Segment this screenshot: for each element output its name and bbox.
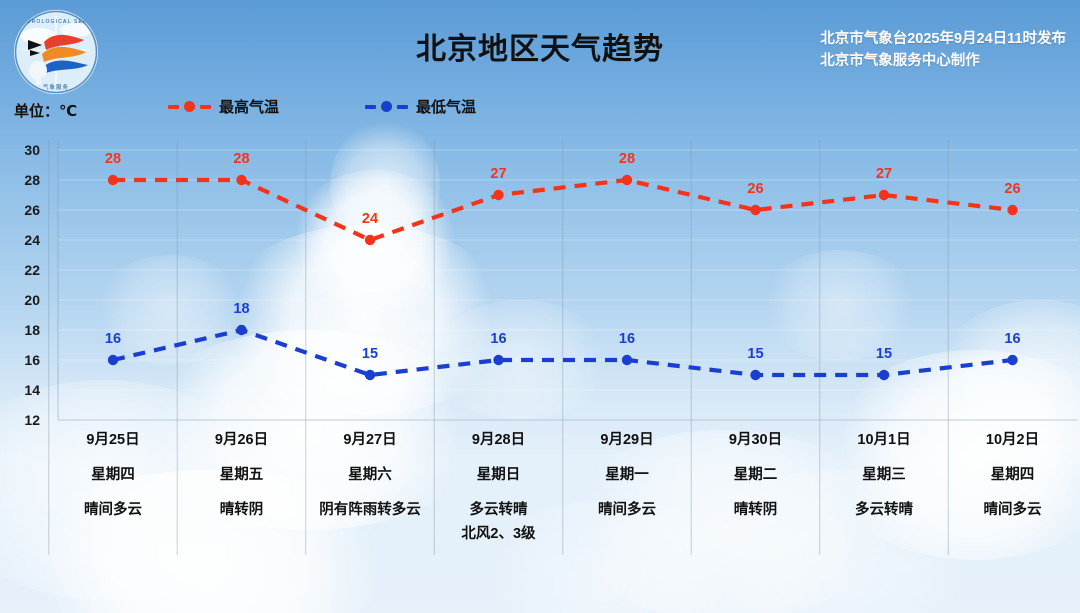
day-date-3: 9月28日	[424, 428, 574, 449]
low-temp-label-5: 15	[747, 346, 763, 362]
day-weekday-3: 星期日	[424, 463, 574, 484]
day-weekday-2: 星期六	[295, 463, 445, 484]
high-temp-label-6: 27	[876, 166, 892, 182]
day-weather-3: 多云转晴	[424, 498, 574, 522]
day-column-5: 9月30日星期二晴转阴	[681, 428, 831, 522]
day-weekday-5: 星期二	[681, 463, 831, 484]
low-temp-label-7: 16	[1004, 331, 1020, 347]
day-weather-4: 晴间多云	[552, 498, 702, 522]
day-weekday-7: 星期四	[938, 463, 1080, 484]
day-column-2: 9月27日星期六阴有阵雨转多云	[295, 428, 445, 522]
day-date-1: 9月26日	[167, 428, 317, 449]
day-date-4: 9月29日	[552, 428, 702, 449]
day-weekday-1: 星期五	[167, 463, 317, 484]
low-temp-label-1: 18	[233, 301, 249, 317]
day-date-6: 10月1日	[809, 428, 959, 449]
day-column-0: 9月25日星期四晴间多云	[38, 428, 188, 522]
low-temp-label-4: 16	[619, 331, 635, 347]
day-date-0: 9月25日	[38, 428, 188, 449]
day-weather-6: 多云转晴	[809, 498, 959, 522]
high-temp-label-1: 28	[233, 151, 249, 167]
low-temp-label-3: 16	[490, 331, 506, 347]
day-column-3: 9月28日星期日多云转晴北风2、3级	[424, 428, 574, 546]
day-weather-5: 晴转阴	[681, 498, 831, 522]
high-temp-label-4: 28	[619, 151, 635, 167]
high-temp-label-5: 26	[747, 181, 763, 197]
day-wind-3: 北风2、3级	[424, 522, 574, 546]
day-weather-1: 晴转阴	[167, 498, 317, 522]
day-column-7: 10月2日星期四晴间多云	[938, 428, 1080, 522]
weather-trend-chart-page: METEOROLOGICAL SERVICE 气象服务 北京地区天气趋势 北京市…	[0, 0, 1080, 613]
high-temp-label-3: 27	[490, 166, 506, 182]
day-weather-2: 阴有阵雨转多云	[295, 498, 445, 522]
day-weather-0: 晴间多云	[38, 498, 188, 522]
day-date-7: 10月2日	[938, 428, 1080, 449]
day-date-2: 9月27日	[295, 428, 445, 449]
day-date-5: 9月30日	[681, 428, 831, 449]
high-temp-label-7: 26	[1004, 181, 1020, 197]
x-axis-day-columns: 9月25日星期四晴间多云9月26日星期五晴转阴9月27日星期六阴有阵雨转多云9月…	[0, 428, 1080, 558]
day-weekday-6: 星期三	[809, 463, 959, 484]
high-temp-label-0: 28	[105, 151, 121, 167]
day-weekday-4: 星期一	[552, 463, 702, 484]
low-temp-label-0: 16	[105, 331, 121, 347]
day-column-6: 10月1日星期三多云转晴	[809, 428, 959, 522]
high-temp-label-2: 24	[362, 211, 378, 227]
day-column-1: 9月26日星期五晴转阴	[167, 428, 317, 522]
day-weather-7: 晴间多云	[938, 498, 1080, 522]
day-column-4: 9月29日星期一晴间多云	[552, 428, 702, 522]
low-temp-label-6: 15	[876, 346, 892, 362]
day-weekday-0: 星期四	[38, 463, 188, 484]
low-temp-label-2: 15	[362, 346, 378, 362]
